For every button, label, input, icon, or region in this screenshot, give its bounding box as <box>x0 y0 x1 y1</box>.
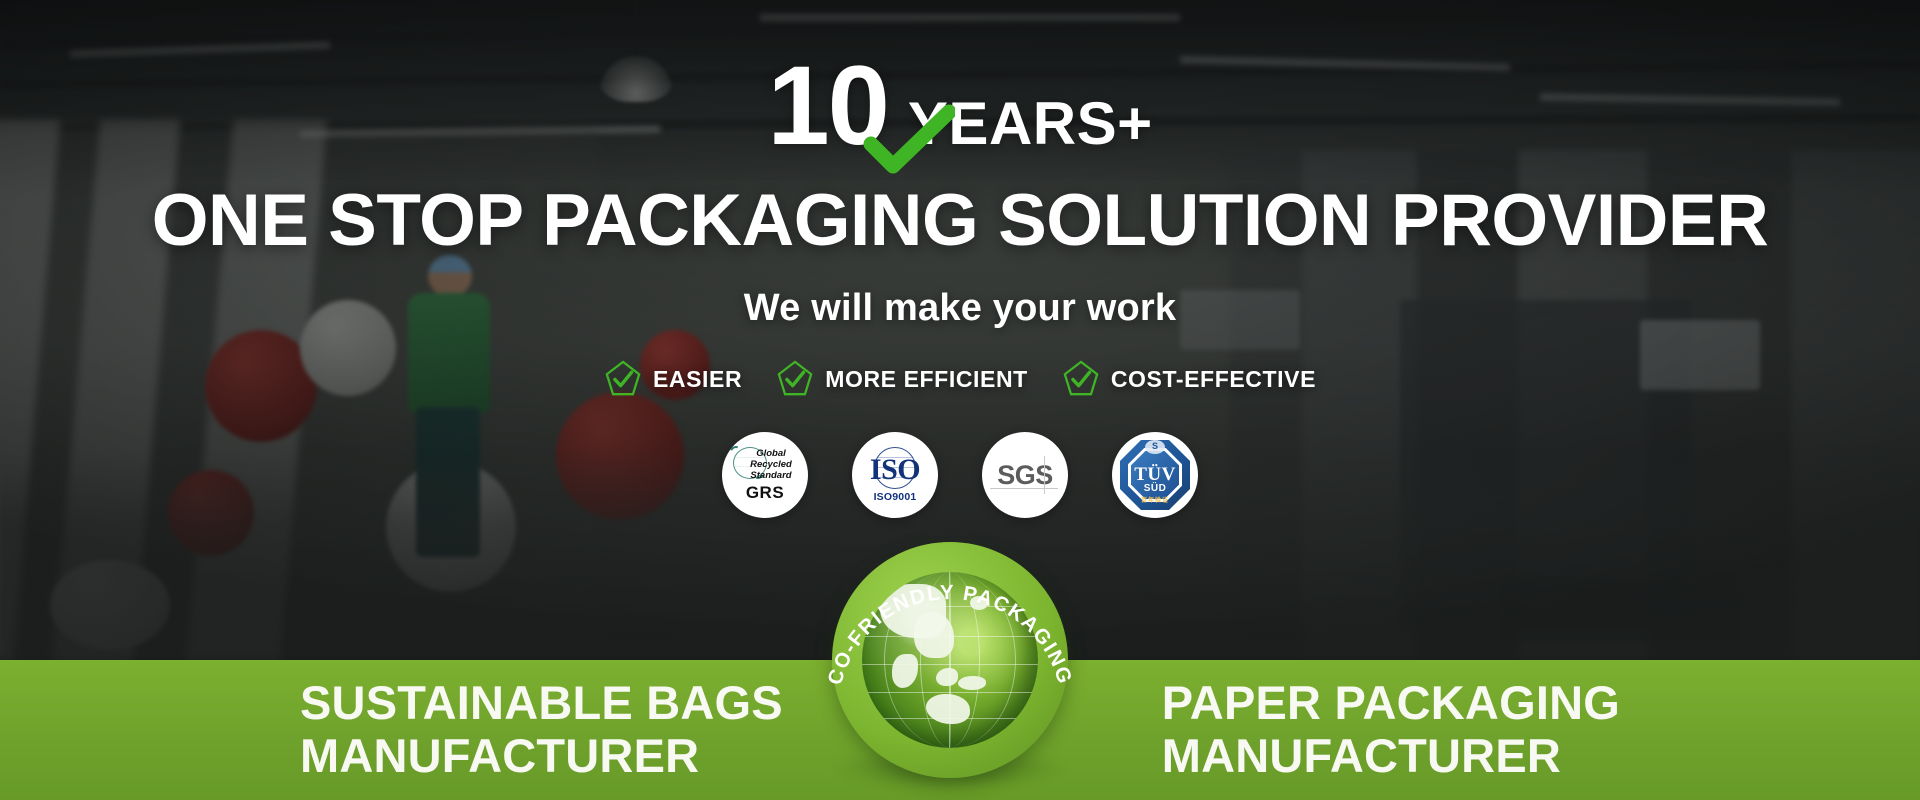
cert-badge-tuv[interactable]: S TÜV SÜD 百年验证 <box>1112 432 1198 518</box>
sgs-badge-icon: SGS <box>982 432 1068 518</box>
feature-label: EASIER <box>653 366 742 393</box>
grs-abbr: GRS <box>746 483 784 503</box>
page-subtitle: We will make your work <box>744 287 1176 330</box>
years-badge: 10 YEARS+ <box>767 58 1152 162</box>
eco-globe-logo: ECO-FRIENDLY PACKAGINGS <box>810 540 1090 800</box>
tuv-footer: 百年验证 <box>1117 495 1193 504</box>
feature-list: EASIER MORE EFFICIENT COST-EFFECTIVE <box>604 360 1316 398</box>
continent-shape <box>958 676 986 690</box>
pentagon-check-icon <box>604 360 642 398</box>
cert-badge-grs[interactable]: Global Recycled Standard GRS <box>722 432 808 518</box>
left-tagline-line1: SUSTAINABLE BAGS <box>300 677 783 730</box>
iso-badge-icon: ISO ISO9001 <box>860 447 930 503</box>
feature-item-cost-effective: COST-EFFECTIVE <box>1062 360 1316 398</box>
iso-title: ISO <box>860 453 930 487</box>
page-title: ONE STOP PACKAGING SOLUTION PROVIDER <box>152 184 1769 257</box>
left-tagline-line2: MANUFACTURER <box>300 730 783 783</box>
feature-item-easier: EASIER <box>604 360 742 398</box>
pentagon-check-icon <box>776 360 814 398</box>
feature-item-more-efficient: MORE EFFICIENT <box>776 360 1028 398</box>
grs-title: Global Recycled Standard <box>740 449 802 482</box>
continent-shape <box>970 596 988 610</box>
feature-label: COST-EFFECTIVE <box>1111 366 1316 393</box>
pentagon-check-icon <box>1062 360 1100 398</box>
left-tagline: SUSTAINABLE BAGS MANUFACTURER <box>300 677 783 782</box>
cert-badge-iso[interactable]: ISO ISO9001 <box>852 432 938 518</box>
continent-shape <box>936 668 958 686</box>
tuv-sub: SÜD <box>1117 483 1193 494</box>
eco-globe-icon <box>862 572 1038 748</box>
cert-badge-sgs[interactable]: SGS <box>982 432 1068 518</box>
certification-badges: Global Recycled Standard GRS ISO ISO9001 <box>722 432 1198 518</box>
grs-badge-icon: Global Recycled Standard GRS <box>728 447 802 503</box>
green-check-icon <box>863 104 955 178</box>
right-tagline: PAPER PACKAGING MANUFACTURER <box>1162 677 1620 782</box>
tuv-sud-badge-icon: S TÜV SÜD 百年验证 <box>1117 437 1193 513</box>
right-tagline-line2: MANUFACTURER <box>1162 730 1620 783</box>
tuv-top-mark: S <box>1145 441 1165 451</box>
feature-label: MORE EFFICIENT <box>825 366 1028 393</box>
right-tagline-line1: PAPER PACKAGING <box>1162 677 1620 730</box>
